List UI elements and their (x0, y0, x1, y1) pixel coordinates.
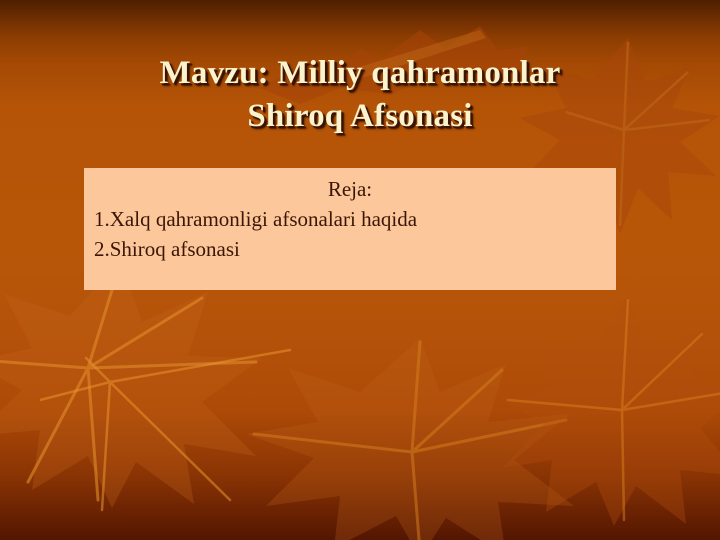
agenda-item-2: 2.Shiroq afsonasi (94, 234, 606, 264)
maple-leaf-icon (230, 330, 590, 540)
maple-leaf-icon (500, 290, 720, 530)
agenda-item-1: 1.Xalq qahramonligi afsonalari haqida (94, 204, 606, 234)
leaf-vein-icon (40, 330, 300, 520)
agenda-heading: Reja: (94, 174, 606, 204)
slide-title-line-1: Mavzu: Milliy qahramonlar (0, 52, 720, 95)
slide-title-line-2: Shiroq Afsonasi (0, 95, 720, 138)
agenda-content-box: Reja: 1.Xalq qahramonligi afsonalari haq… (84, 168, 616, 290)
presentation-slide: Mavzu: Milliy qahramonlar Shiroq Afsonas… (0, 0, 720, 540)
slide-title: Mavzu: Milliy qahramonlar Shiroq Afsonas… (0, 52, 720, 138)
